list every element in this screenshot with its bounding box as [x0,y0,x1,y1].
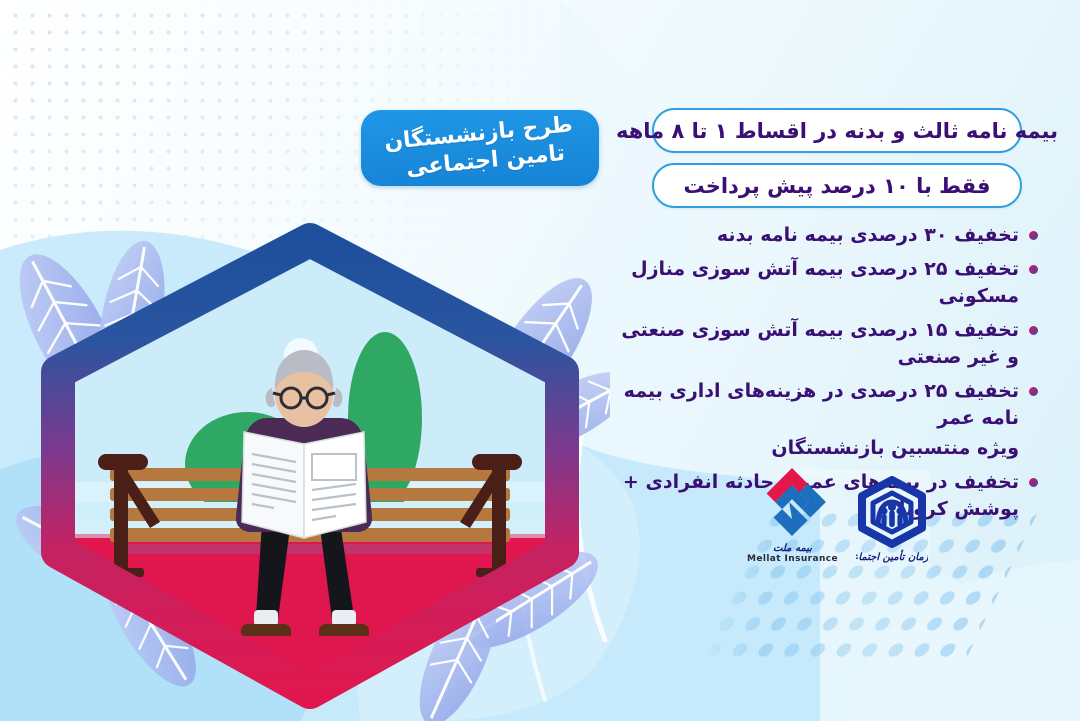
poster-canvas: طرح بازنشستگان تامین اجتماعی بیمه نامه ث… [0,0,1080,721]
list-item-label: تخفیف ۱۵ درصدی بیمه آتش سوزی صنعتی و غیر… [618,317,1019,371]
list-item: تخفیف ۲۵ درصدی بیمه آتش سوزی منازل مسکون… [618,256,1038,310]
svg-text:سازمان تأمین اجتماعی: سازمان تأمین اجتماعی [856,549,928,563]
bullet-dot-icon [1029,326,1038,335]
sso-caption-script: سازمان تأمین اجتماعی [856,548,928,564]
logo-row: سازمان تأمین اجتماعی بیمه ملت Mellat Ins… [747,468,930,564]
mellat-caption-en: Mellat Insurance [747,554,838,564]
mellat-caption-fa: بیمه ملت [773,543,812,554]
list-item-label: تخفیف ۲۵ درصدی در هزینه‌های اداری بیمه ن… [618,378,1019,432]
retirees-plan-badge[interactable]: طرح بازنشستگان تامین اجتماعی [361,110,599,186]
headline-pill-prepayment[interactable]: فقط با ۱۰ درصد پیش پرداخت [652,163,1022,208]
headline-pill-installments-label: بیمه نامه ثالث و بدنه در اقساط ۱ تا ۸ ما… [616,119,1058,143]
list-item: تخفیف ۱۵ درصدی بیمه آتش سوزی صنعتی و غیر… [618,317,1038,371]
mellat-diamond-icon [752,468,832,540]
list-item: تخفیف ۲۵ درصدی در هزینه‌های اداری بیمه ن… [618,378,1038,432]
bullet-dot-icon [1029,231,1038,240]
list-item-label: تخفیف ۲۵ درصدی بیمه آتش سوزی منازل مسکون… [618,256,1019,310]
newspaper [242,432,366,538]
logo-social-security-organization: سازمان تأمین اجتماعی [854,476,930,564]
bullet-dot-icon [1029,478,1038,487]
bullet-dot-icon [1029,387,1038,396]
logo-mellat-insurance: بیمه ملت Mellat Insurance [747,468,838,564]
retiree-illustration [10,222,610,721]
headline-pill-installments[interactable]: بیمه نامه ثالث و بدنه در اقساط ۱ تا ۸ ما… [652,108,1022,153]
headline-pill-prepayment-label: فقط با ۱۰ درصد پیش پرداخت [683,174,990,198]
list-item-label: تخفیف ۳۰ درصدی بیمه نامه بدنه [618,222,1019,249]
park-scene [10,222,610,721]
bullet-dot-icon [1029,265,1038,274]
list-item: تخفیف ۳۰ درصدی بیمه نامه بدنه [618,222,1038,249]
sso-hexagon-icon [854,476,930,548]
list-item-sublabel: ویژه منتسبین بازنشستگان [618,435,1019,462]
